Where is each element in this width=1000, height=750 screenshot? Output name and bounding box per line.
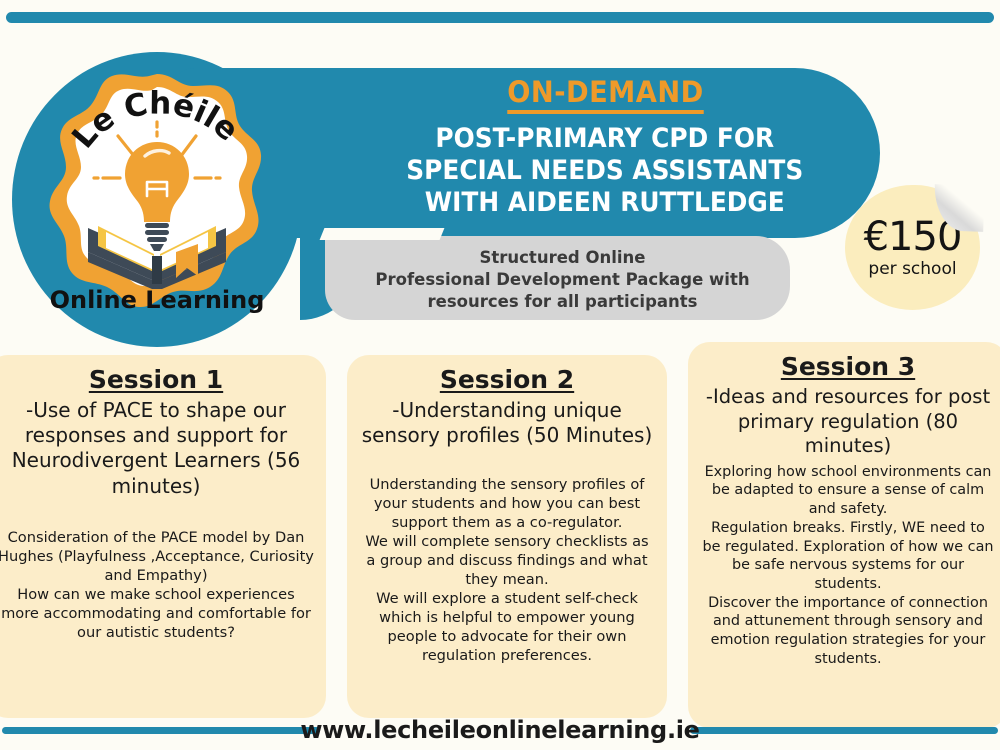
header-title-line-2: SPECIAL NEEDS ASSISTANTS bbox=[406, 155, 803, 187]
price-unit: per school bbox=[868, 259, 956, 279]
logo-badge: Le Chéile bbox=[48, 70, 266, 328]
subtitle-line-3: resources for all participants bbox=[428, 291, 698, 313]
header-title-line-1: POST-PRIMARY CPD FOR bbox=[406, 123, 803, 155]
subtitle-line-2: Professional Development Package with bbox=[375, 269, 749, 291]
header-title-line-3: WITH AIDEEN RUTTLEDGE bbox=[406, 187, 803, 219]
subtitle-line-1: Structured Online bbox=[480, 247, 646, 269]
session-2-lead: -Understanding unique sensory profiles (… bbox=[359, 398, 655, 448]
top-brush-stroke-decoration bbox=[6, 12, 994, 23]
session-1-title: Session 1 bbox=[0, 365, 314, 394]
session-3-body: Exploring how school environments can be… bbox=[700, 463, 996, 669]
eyebrow-label: ON-DEMAND bbox=[507, 78, 703, 114]
header-text-group: ON-DEMAND POST-PRIMARY CPD FOR SPECIAL N… bbox=[335, 78, 875, 233]
session-1-body: Consideration of the PACE model by Dan H… bbox=[0, 529, 314, 643]
website-url[interactable]: www.lecheileonlinelearning.ie bbox=[0, 716, 1000, 744]
logo-badge-svg: Le Chéile bbox=[48, 70, 266, 328]
session-2-body: Understanding the sensory profiles of yo… bbox=[359, 476, 655, 666]
subtitle-text-group: Structured Online Professional Developme… bbox=[340, 240, 785, 320]
session-1-lead: -Use of PACE to shape our responses and … bbox=[0, 398, 314, 499]
flyer-canvas: ON-DEMAND POST-PRIMARY CPD FOR SPECIAL N… bbox=[0, 0, 1000, 750]
logo-wordmark-bottom: Online Learning bbox=[50, 286, 265, 314]
header-title: POST-PRIMARY CPD FOR SPECIAL NEEDS ASSIS… bbox=[389, 123, 821, 219]
session-3-lead: -Ideas and resources for post primary re… bbox=[700, 385, 996, 459]
session-3-title: Session 3 bbox=[700, 352, 996, 381]
session-card-1: Session 1 -Use of PACE to shape our resp… bbox=[0, 355, 326, 718]
session-card-3: Session 3 -Ideas and resources for post … bbox=[688, 342, 1000, 728]
session-card-2: Session 2 -Understanding unique sensory … bbox=[347, 355, 667, 718]
session-2-title: Session 2 bbox=[359, 365, 655, 394]
